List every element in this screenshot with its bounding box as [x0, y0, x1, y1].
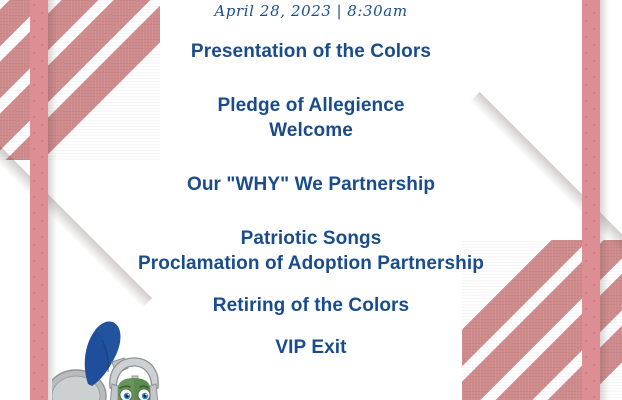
event-date: April 28, 2023 [214, 2, 331, 20]
program-content: April 28, 2023|8:30am Presentation of th… [0, 0, 622, 358]
datetime-separator: | [332, 2, 348, 20]
agenda-item: Pledge of Allegience [0, 96, 622, 116]
agenda-item: Patriotic Songs [0, 229, 622, 249]
agenda-item: Proclamation of Adoption Partnership [0, 254, 622, 274]
agenda-item: Retiring of the Colors [0, 296, 622, 316]
event-time: 8:30am [347, 2, 407, 20]
agenda-item: Welcome [0, 121, 622, 141]
event-datetime: April 28, 2023|8:30am [0, 2, 622, 20]
agenda-item: Our "WHY" We Partnership [0, 175, 622, 195]
spartan-mascot-icon [52, 318, 182, 400]
agenda-list: Presentation of the ColorsPledge of Alle… [0, 42, 622, 358]
agenda-item: Presentation of the Colors [0, 42, 622, 62]
program-flyer: April 28, 2023|8:30am Presentation of th… [0, 0, 622, 400]
